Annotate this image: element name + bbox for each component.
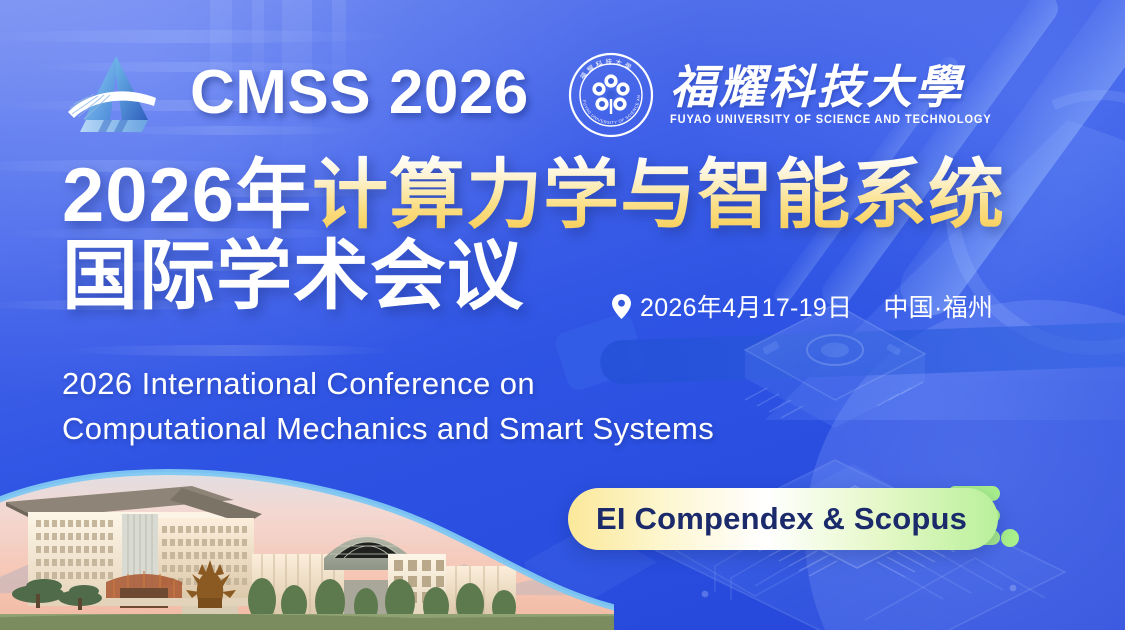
- brand-header: CMSS 2026: [64, 50, 529, 136]
- indexing-badge[interactable]: EI Compendex & Scopus: [568, 488, 998, 550]
- fuyao-university-seal-icon: 福耀科技大學 FUYAO UNIVERSITY OF SCIENCE AND T…: [568, 52, 654, 138]
- location-pin-icon: [612, 294, 631, 319]
- conference-code-title: CMSS 2026: [190, 62, 529, 124]
- indexing-badge-label: EI Compendex & Scopus: [596, 501, 967, 537]
- cmss-triangle-bridge-logo-icon: [64, 50, 168, 136]
- campus-photo-illustration: [0, 434, 614, 630]
- conference-place: 中国·福州: [883, 288, 993, 324]
- university-identity: 福耀科技大學 FUYAO UNIVERSITY OF SCIENCE AND T…: [568, 52, 992, 138]
- decor-circle-right: [805, 300, 1125, 630]
- conference-date: 2026年4月17-19日: [640, 288, 852, 324]
- university-name-en: FUYAO UNIVERSITY OF SCIENCE AND TECHNOLO…: [670, 114, 992, 127]
- conference-banner: CMSS 2026: [0, 0, 1125, 630]
- decor-brush-1: [0, 30, 400, 43]
- date-location-bar: 2026年4月17-19日 中国·福州: [612, 288, 993, 324]
- decor-brush-10: [60, 345, 400, 356]
- title-en-line1: 2026 International Conference on: [62, 362, 714, 407]
- campus-photo: [0, 434, 614, 630]
- title-cn-topic: 计算力学与智能系统: [312, 153, 1005, 238]
- university-name-cn: 福耀科技大學: [670, 64, 992, 112]
- title-cn-year: 2026年: [62, 153, 312, 238]
